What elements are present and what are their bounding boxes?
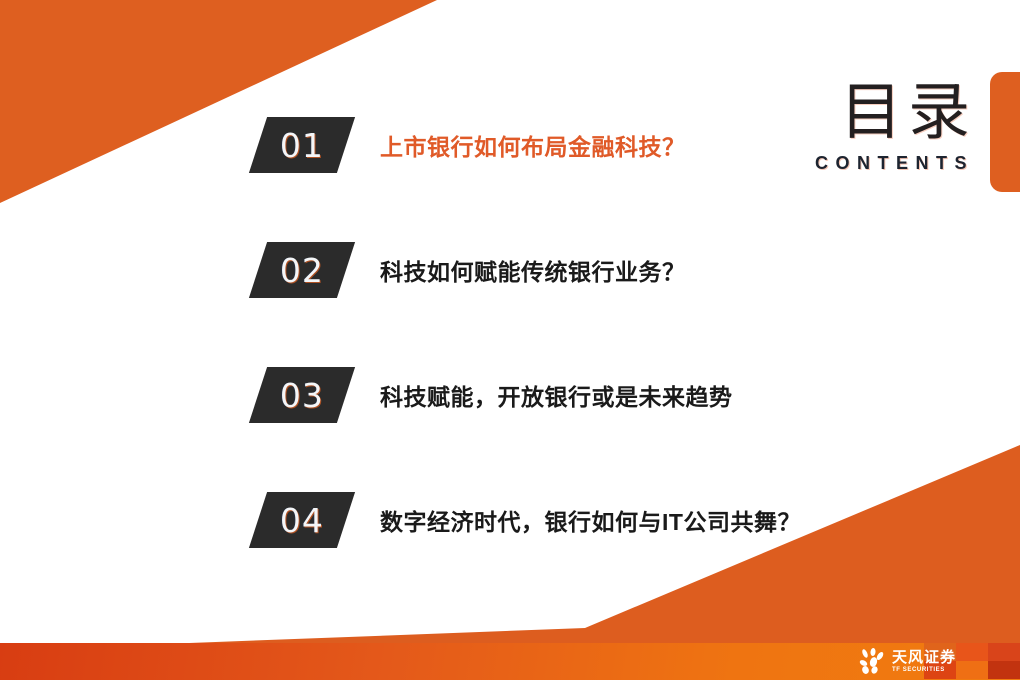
toc-number-label: 03	[280, 376, 324, 415]
tf-flower-logo-icon	[858, 648, 886, 674]
footer-square	[988, 661, 1020, 679]
footer-square	[988, 643, 1020, 661]
toc-number-label: 02	[280, 251, 324, 290]
slide-root: 目录 CONTENTS 01 上市银行如何布局金融科技？ 02 科技如何赋能传统…	[0, 0, 1020, 680]
toc-item-04[interactable]: 04 数字经济时代，银行如何与IT公司共舞？	[258, 485, 978, 555]
toc-item-title[interactable]: 科技如何赋能传统银行业务？	[380, 253, 686, 287]
toc-item-title[interactable]: 上市银行如何布局金融科技？	[380, 128, 686, 162]
toc-number-label: 01	[280, 126, 324, 165]
toc-item-title[interactable]: 数字经济时代，银行如何与IT公司共舞？	[380, 503, 801, 537]
toc-item-02[interactable]: 02 科技如何赋能传统银行业务？	[258, 235, 978, 305]
footer-logo-cn: 天风证券	[892, 650, 956, 665]
footer-logo-text: 天风证券 TF SECURITIES	[892, 650, 956, 673]
footer-square	[956, 643, 988, 661]
toc-number-label: 04	[280, 501, 324, 540]
toc-item-title[interactable]: 科技赋能，开放银行或是未来趋势	[380, 378, 733, 412]
toc-number-badge: 01	[249, 117, 355, 173]
toc-item-01[interactable]: 01 上市银行如何布局金融科技？	[258, 110, 978, 180]
toc-number-badge: 02	[249, 242, 355, 298]
footer-logo: 天风证券 TF SECURITIES	[858, 644, 956, 678]
footer-logo-en: TF SECURITIES	[892, 667, 956, 673]
toc-number-badge: 03	[249, 367, 355, 423]
right-edge-orange-tab	[990, 72, 1020, 192]
toc-item-03[interactable]: 03 科技赋能，开放银行或是未来趋势	[258, 360, 978, 430]
footer-square	[956, 661, 988, 679]
toc-number-badge: 04	[249, 492, 355, 548]
table-of-contents: 01 上市银行如何布局金融科技？ 02 科技如何赋能传统银行业务？ 03 科技赋…	[258, 110, 978, 555]
